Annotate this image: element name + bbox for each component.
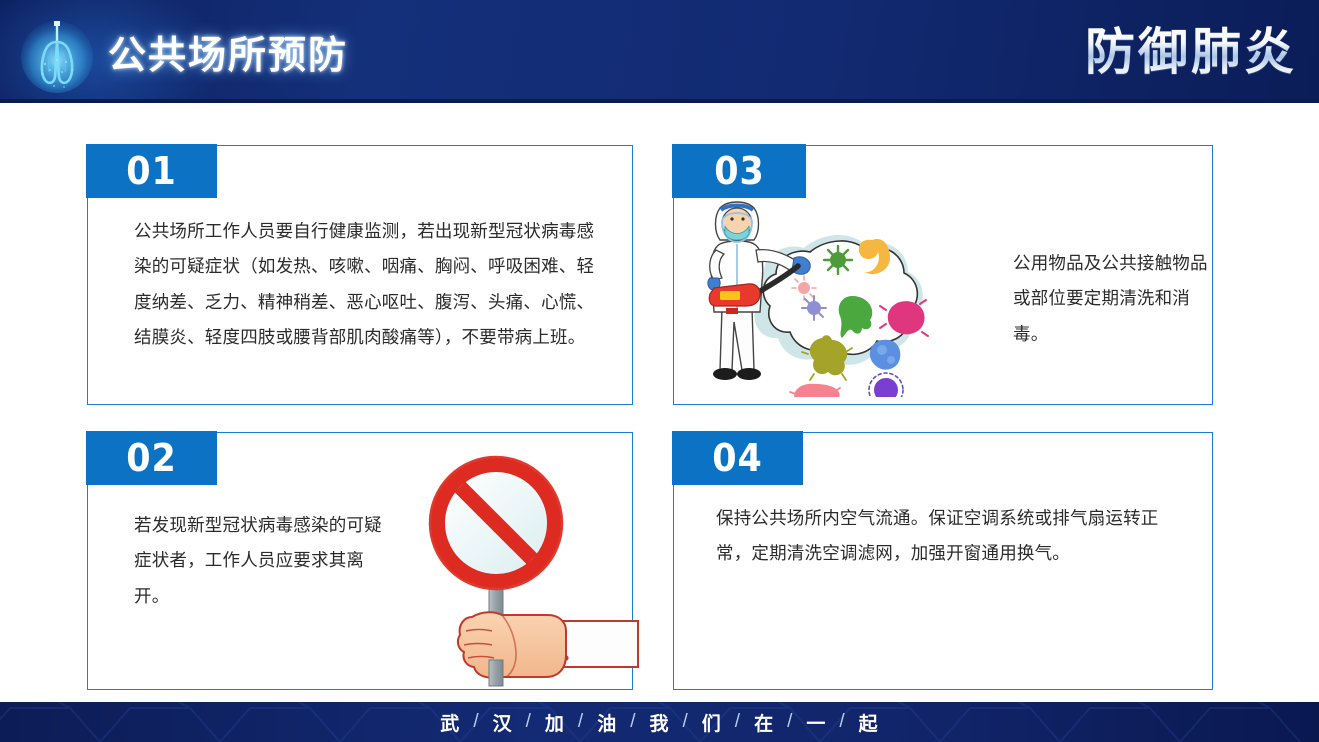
footer-char-4: 油: [597, 709, 617, 736]
card-01-text: 公共场所工作人员要自行健康监测，若出现新型冠状病毒感染的可疑症状（如发热、咳嗽、…: [134, 214, 604, 355]
footer-char-2: 汉: [493, 709, 513, 736]
slide-root: 公共场所预防 防御肺炎 01 公共场所工作人员要自行健康监测，若出现新型冠状病毒…: [0, 0, 1319, 742]
card-03[interactable]: 03: [673, 145, 1213, 405]
footer-char-1: 武: [440, 709, 460, 736]
footer-char-9: 起: [859, 709, 879, 736]
card-01-number-tab: 01: [86, 144, 217, 198]
footer-char-5: 我: [649, 709, 669, 736]
prohibition-sign-illustration: [406, 455, 646, 687]
footer-separator: /: [630, 711, 636, 733]
slide-header: 公共场所预防 防御肺炎: [0, 0, 1319, 103]
card-04-number-tab: 04: [672, 431, 803, 485]
card-02[interactable]: 02 若发现新型冠状病毒感染的可疑症状者，工作人员应要求其离开。: [87, 432, 633, 690]
footer-separator: /: [735, 711, 741, 733]
footer-separator: /: [839, 711, 845, 733]
disinfection-worker-illustration: [686, 192, 1016, 397]
header-underline: [0, 99, 1319, 103]
card-02-text: 若发现新型冠状病毒感染的可疑症状者，工作人员应要求其离开。: [134, 508, 394, 614]
card-03-text: 公用物品及公共接触物品或部位要定期清洗和消毒。: [1013, 246, 1208, 352]
card-04[interactable]: 04 保持公共场所内空气流通。保证空调系统或排气扇运转正常，定期清洗空调滤网，加…: [673, 432, 1213, 690]
lungs-icon: [18, 12, 96, 94]
page-title: 公共场所预防: [108, 24, 348, 79]
brand-title: 防御肺炎: [1085, 12, 1297, 84]
card-01-number: 01: [127, 152, 177, 190]
card-04-number: 04: [713, 439, 763, 477]
card-02-number: 02: [127, 439, 177, 477]
card-04-text: 保持公共场所内空气流通。保证空调系统或排气扇运转正常，定期清洗空调滤网，加强开窗…: [716, 501, 1186, 572]
footer-separator: /: [526, 711, 532, 733]
card-01[interactable]: 01 公共场所工作人员要自行健康监测，若出现新型冠状病毒感染的可疑症状（如发热、…: [87, 145, 633, 405]
slide-footer: 武 / 汉 / 加 / 油 / 我 / 们 / 在 / 一 / 起: [0, 702, 1319, 742]
card-03-number-tab: 03: [672, 144, 806, 198]
footer-separator: /: [787, 711, 793, 733]
footer-separator: /: [683, 711, 689, 733]
footer-separator: /: [578, 711, 584, 733]
footer-char-3: 加: [545, 709, 565, 736]
card-02-number-tab: 02: [86, 431, 217, 485]
card-03-number: 03: [714, 152, 764, 190]
footer-char-8: 一: [806, 709, 826, 736]
footer-separator: /: [473, 711, 479, 733]
footer-char-7: 在: [754, 709, 774, 736]
footer-char-6: 们: [702, 709, 722, 736]
footer-slogan: 武 / 汉 / 加 / 油 / 我 / 们 / 在 / 一 / 起: [0, 702, 1319, 742]
